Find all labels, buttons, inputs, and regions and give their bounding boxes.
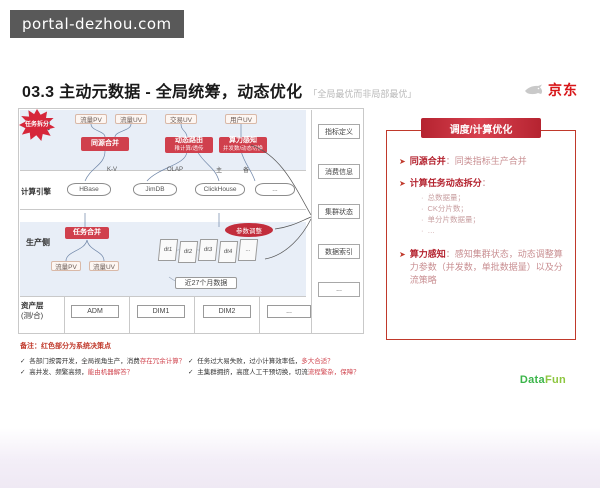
watermark-top: portal-dezhou.com	[10, 10, 184, 38]
arrow-bullet-icon: ➤	[399, 155, 406, 168]
metadata-connectors	[19, 109, 365, 335]
slide-bottom-gradient	[0, 428, 600, 488]
panel-item-same-source-merge: ➤ 同源合并：同类指标生产合并	[399, 155, 565, 168]
arrow-bullet-icon: ➤	[399, 177, 406, 190]
panel-subitem-list: ·总数据量； ·CK分片数； ·单分片数据量； ·…	[421, 192, 565, 236]
footnote-column-right: ✓ 任务过大易失败，过小计算效率低，多大合适？ ✓ 主集群拥挤，高度人工干预切换…	[188, 356, 368, 378]
jd-logo: 京东	[523, 80, 578, 100]
optimization-panel-body: ➤ 同源合并：同类指标生产合并 ➤ 计算任务动态拆分： ·总数据量； ·CK分片…	[399, 155, 565, 296]
footnote-item: ✓ 各部门按需开发，全局视角生产，消费存在冗余计算？	[20, 356, 180, 367]
jd-brand-text: 京东	[548, 80, 578, 100]
dot-icon: ·	[421, 226, 424, 235]
page-title-quote: 「全局最优而非局部最优」	[308, 87, 416, 102]
panel-item-dynamic-task-split: ➤ 计算任务动态拆分：	[399, 177, 565, 190]
footnote-item: ✓ 主集群拥挤，高度人工干预切换，切流流程繁杂，保障？	[188, 367, 368, 378]
panel-subitem: ·CK分片数；	[421, 203, 565, 214]
optimization-panel: ➤ 同源合并：同类指标生产合并 ➤ 计算任务动态拆分： ·总数据量； ·CK分片…	[386, 130, 576, 340]
check-icon: ✓	[20, 358, 25, 365]
datafun-logo: DataFun	[520, 374, 566, 386]
check-icon: ✓	[20, 369, 25, 376]
panel-subitem: ·单分片数据量；	[421, 214, 565, 225]
jd-dog-icon	[523, 83, 545, 97]
footnote-item: ✓ 任务过大易失败，过小计算效率低，多大合适？	[188, 356, 368, 367]
footnote-heading: 备注：红色部分为系统决策点	[20, 341, 111, 351]
arrow-bullet-icon: ➤	[399, 248, 406, 287]
dot-icon: ·	[421, 204, 424, 213]
datafun-logo-part1: Data	[520, 374, 545, 386]
datafun-logo-part2: Fun	[545, 374, 566, 386]
panel-subitem: ·…	[421, 225, 565, 236]
panel-subitem: ·总数据量；	[421, 192, 565, 203]
panel-item-compute-awareness: ➤ 算力感知：感知集群状态，动态调整算力参数（并发数，单批数据量）以及分流策略	[399, 248, 565, 287]
footnote-column-left: ✓ 各部门按需开发，全局视角生产，消费存在冗余计算？ ✓ 高并发、频繁高频，能由…	[20, 356, 180, 378]
dot-icon: ·	[421, 193, 424, 202]
architecture-diagram: 消费侧 计算引擎 生产侧 资产层 (测/合) 流量PV 流量UV 交易UV 用户…	[18, 108, 364, 334]
dot-icon: ·	[421, 215, 424, 224]
check-icon: ✓	[188, 358, 193, 365]
check-icon: ✓	[188, 369, 193, 376]
footnote-item: ✓ 高并发、频繁高频，能由机器解答？	[20, 367, 180, 378]
page-title: 03.3 主动元数据 - 全局统筹，动态优化	[22, 78, 302, 102]
slide-title-row: 03.3 主动元数据 - 全局统筹，动态优化 「全局最优而非局部最优」	[22, 78, 416, 102]
optimization-panel-badge: 调度/计算优化	[421, 118, 541, 138]
